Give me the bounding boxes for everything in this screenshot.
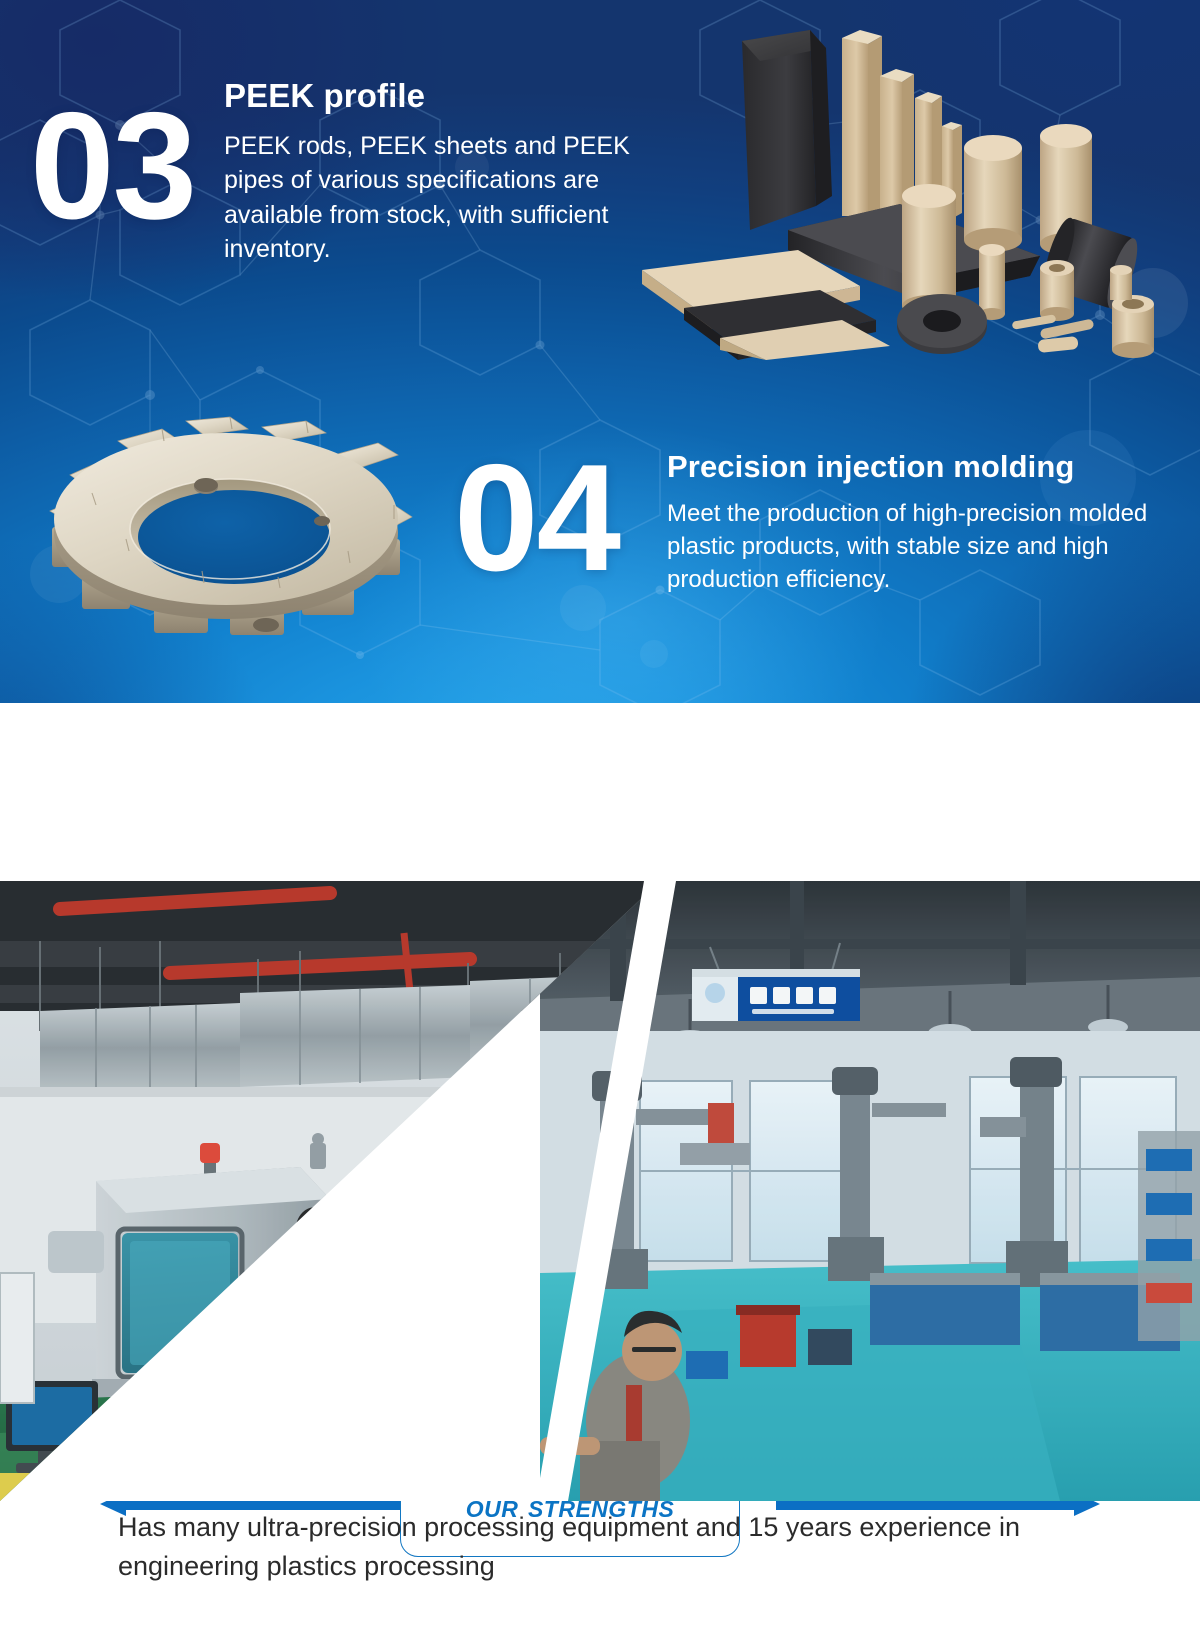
standing-operator-center — [284, 1207, 390, 1501]
peek-gear-ring-photo — [34, 393, 444, 663]
feature-body-03: PEEK rods, PEEK sheets and PEEK pipes of… — [224, 129, 664, 267]
feature-body-04: Meet the production of high-precision mo… — [667, 497, 1187, 596]
feature-number-04: 04 — [454, 442, 619, 594]
workshop-photo-pair — [0, 881, 1200, 1501]
strengths-banner: Our strengths — [0, 703, 1200, 879]
bottom-caption: Has many ultra-precision processing equi… — [118, 1508, 1108, 1586]
page-root: 03 PEEK profile PEEK rods, PEEK sheets a… — [0, 0, 1200, 1633]
mold-workshop-photo — [540, 881, 1200, 1501]
peek-profiles-photo — [620, 8, 1190, 360]
feature-block-04: 04 Precision injection molding Meet the … — [452, 438, 1192, 658]
feature-title-03: PEEK profile — [224, 78, 664, 115]
hero-panel: 03 PEEK profile PEEK rods, PEEK sheets a… — [0, 0, 1200, 703]
feature-title-04: Precision injection molding — [667, 450, 1187, 485]
feature-number-03: 03 — [30, 90, 195, 242]
feature-block-03: 03 PEEK profile PEEK rods, PEEK sheets a… — [24, 78, 664, 343]
